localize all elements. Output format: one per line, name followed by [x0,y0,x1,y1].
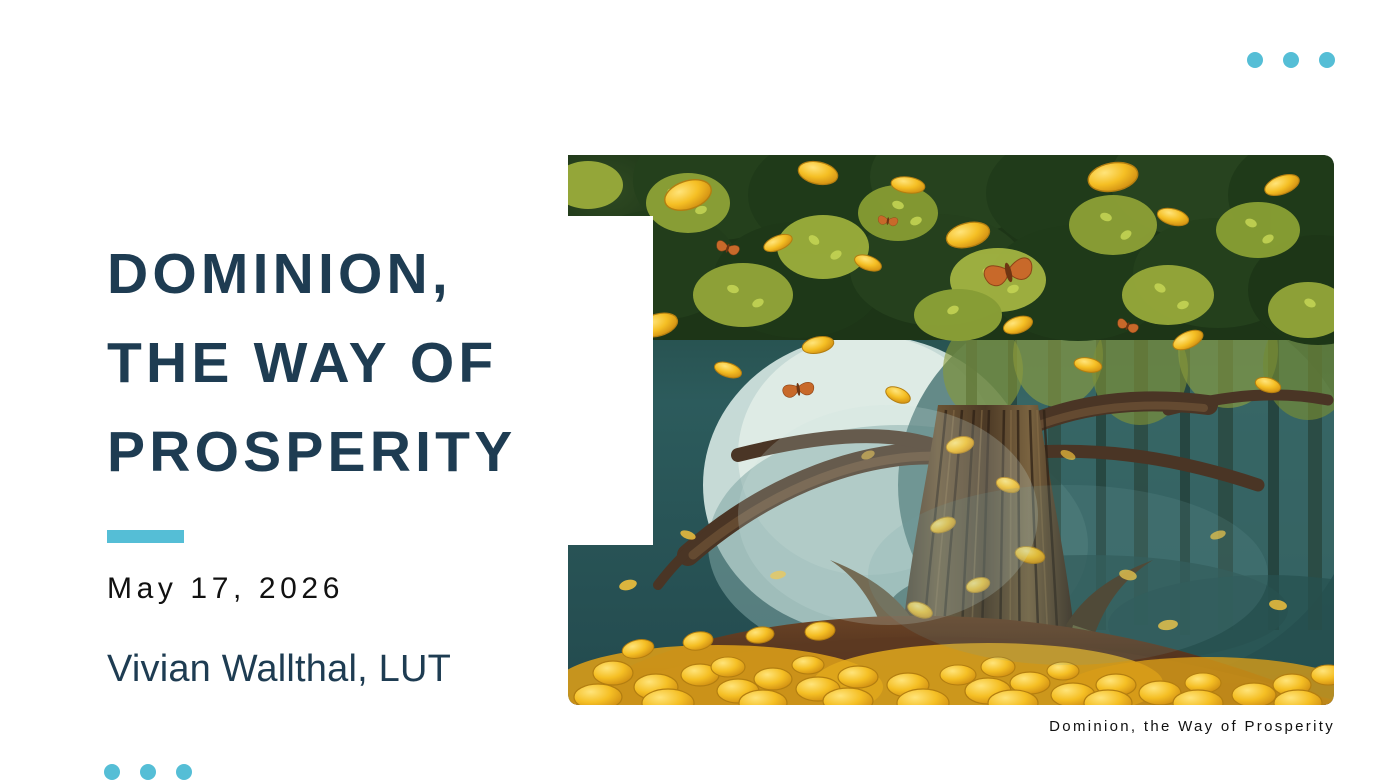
money-tree-forest-illustration [568,155,1334,705]
footer-caption: Dominion, the Way of Prosperity [1049,718,1335,735]
dot-icon [1319,52,1335,68]
slide-author: Vivian Wallthal, LUT [107,648,451,691]
dot-icon [140,764,156,780]
slide-root: Dominion,the Way ofProsperity May 17, 20… [0,0,1394,784]
dot-icon [176,764,192,780]
dot-icon [1247,52,1263,68]
decorative-dots-bottom-left [104,764,192,780]
title-line-3: Prosperity [107,420,516,484]
title-line-2: the Way of [107,331,497,395]
slide-date: May 17, 2026 [107,572,344,606]
dot-icon [1283,52,1299,68]
decorative-dots-top-right [1247,52,1335,68]
dot-icon [104,764,120,780]
page-title: Dominion,the Way ofProsperity [107,230,627,497]
title-line-1: Dominion, [107,242,452,306]
accent-bar [107,530,184,543]
